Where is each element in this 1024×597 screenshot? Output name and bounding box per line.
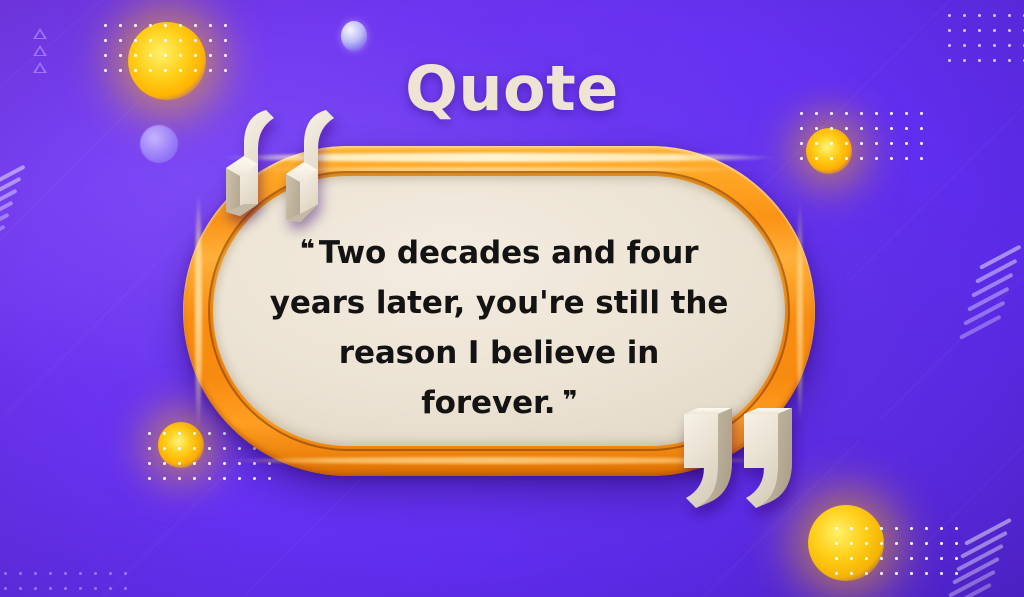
inline-open-quote-icon: ❝ [300, 235, 314, 265]
inline-close-quote-icon: ❞ [562, 386, 576, 416]
frame-highlight-left [195, 192, 202, 430]
quote-text: ❝Two decades and four years later, you'r… [259, 194, 739, 429]
page-title: Quote [0, 52, 1024, 125]
quote-mark-3d-close [676, 410, 804, 522]
quote-mark-3d-open [222, 108, 350, 220]
frame-highlight-right [797, 199, 803, 423]
quote-body: Two decades and four years later, you're… [270, 235, 729, 422]
quote-graphic-canvas: Quote ❝Two decades and four years later,… [0, 0, 1024, 597]
